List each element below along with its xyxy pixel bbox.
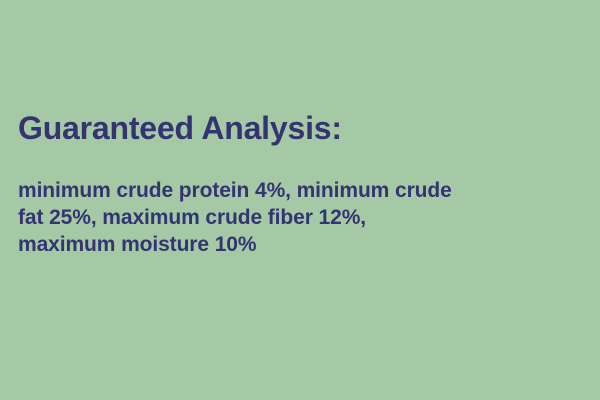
analysis-line: fat 25%, maximum crude fiber 12%,: [18, 204, 596, 231]
content-block: Guaranteed Analysis: minimum crude prote…: [18, 108, 596, 258]
analysis-line: minimum crude protein 4%, minimum crude: [18, 177, 596, 204]
analysis-line: maximum moisture 10%: [18, 231, 596, 258]
guaranteed-analysis-panel: Guaranteed Analysis: minimum crude prote…: [0, 0, 600, 400]
analysis-text-block: minimum crude protein 4%, minimum crude …: [18, 177, 596, 258]
page-title: Guaranteed Analysis:: [18, 108, 596, 148]
